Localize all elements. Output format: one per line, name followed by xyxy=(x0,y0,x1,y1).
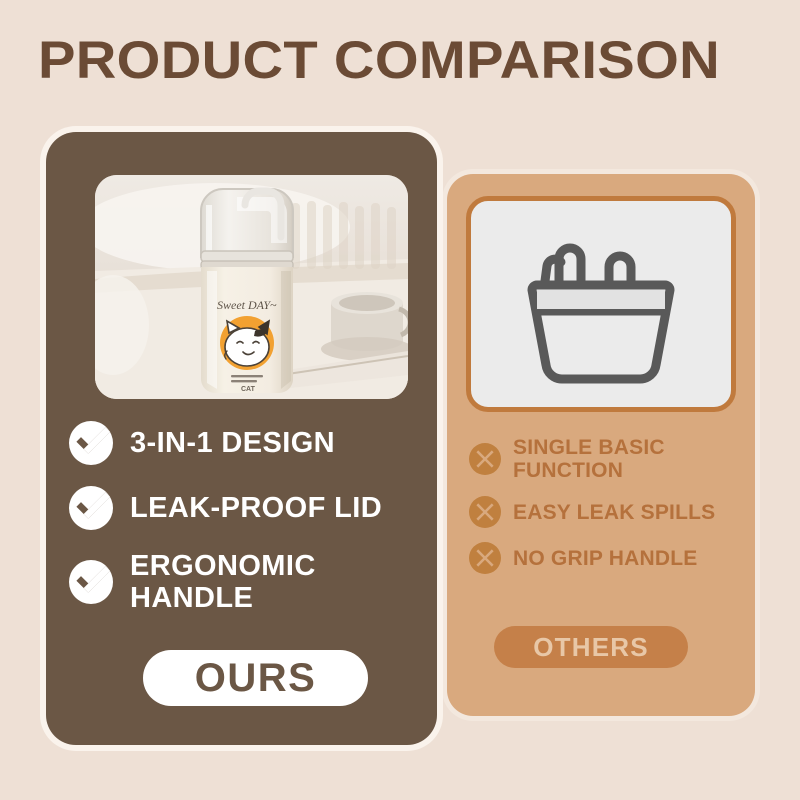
comparison-infographic: PRODUCT COMPARISON SINGLE BASIC FUN xyxy=(0,0,800,800)
others-feature-list: SINGLE BASIC FUNCTION EASY LEAK SPILLS N… xyxy=(469,436,741,588)
x-icon xyxy=(469,496,501,528)
list-item-label: NO GRIP HANDLE xyxy=(513,547,697,570)
page-title: PRODUCT COMPARISON xyxy=(38,31,800,91)
list-item: EASY LEAK SPILLS xyxy=(469,496,741,528)
list-item-label: LEAK-PROOF LID xyxy=(130,492,382,524)
others-illustration-card xyxy=(466,196,736,412)
others-badge: OTHERS xyxy=(494,626,688,668)
check-icon xyxy=(68,420,114,466)
cup-with-straws-icon xyxy=(501,219,701,389)
check-icon xyxy=(68,559,114,605)
bottle-script-text: Sweet DAY~ xyxy=(217,298,277,312)
list-item: SINGLE BASIC FUNCTION xyxy=(469,436,741,482)
check-icon xyxy=(68,485,114,531)
list-item-label: 3-IN-1 DESIGN xyxy=(130,427,335,459)
list-item-label: EASY LEAK SPILLS xyxy=(513,501,715,524)
list-item: 3-IN-1 DESIGN xyxy=(68,420,428,466)
x-icon xyxy=(469,542,501,574)
x-icon xyxy=(469,443,501,475)
svg-text:CAT: CAT xyxy=(241,386,256,393)
product-photo-water-bottle: Sweet DAY~ xyxy=(95,175,408,399)
others-panel: SINGLE BASIC FUNCTION EASY LEAK SPILLS N… xyxy=(447,174,755,716)
list-item: NO GRIP HANDLE xyxy=(469,542,741,574)
list-item: ERGONOMIC HANDLE xyxy=(68,550,428,614)
list-item: LEAK-PROOF LID xyxy=(68,485,428,531)
ours-badge: OURS xyxy=(143,650,368,706)
ours-feature-list: 3-IN-1 DESIGN LEAK-PROOF LID ERGONOMIC H… xyxy=(68,420,428,633)
product-photo: Sweet DAY~ xyxy=(95,175,408,399)
others-badge-label: OTHERS xyxy=(533,632,649,663)
ours-panel: Sweet DAY~ xyxy=(46,132,437,745)
ours-badge-label: OURS xyxy=(195,656,317,701)
list-item-label: ERGONOMIC HANDLE xyxy=(130,550,428,614)
list-item-label: SINGLE BASIC FUNCTION xyxy=(513,436,741,482)
